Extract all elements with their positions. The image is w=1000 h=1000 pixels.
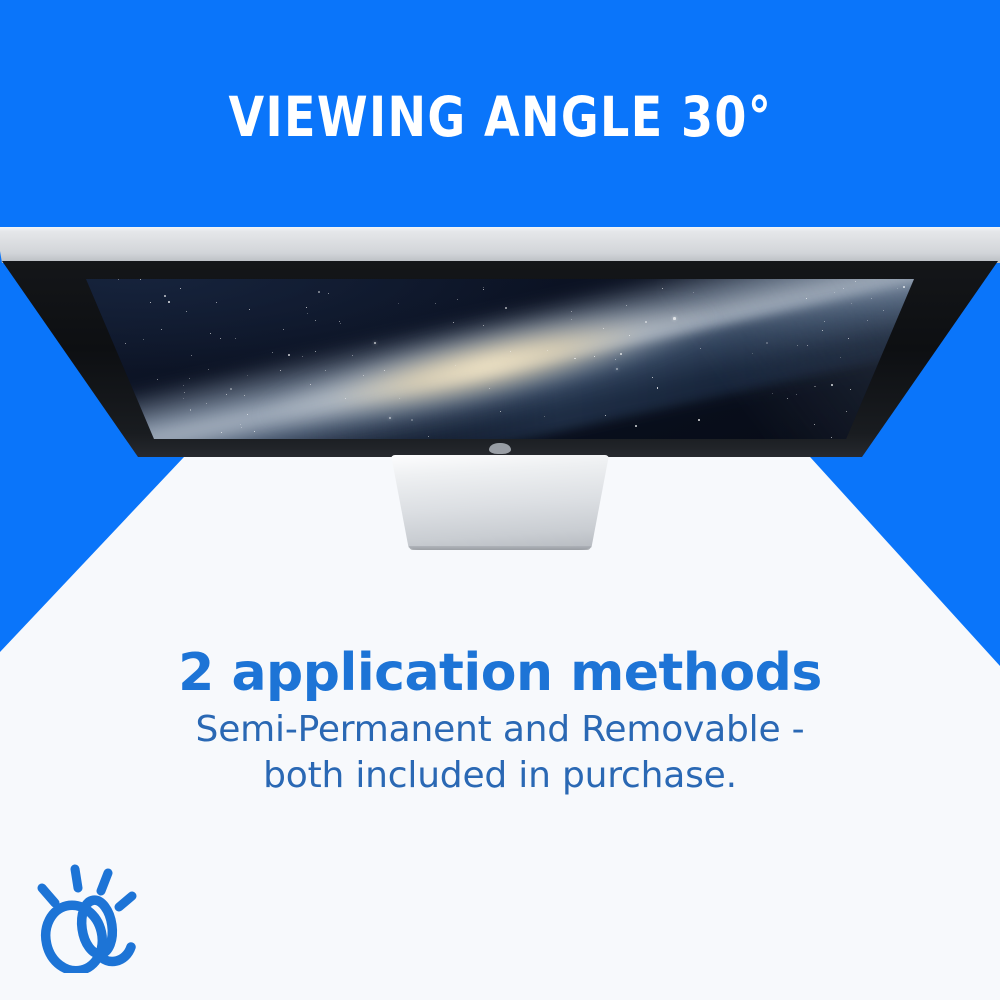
logo-spark-2 (75, 869, 78, 888)
monitor-top-bezel (0, 227, 1000, 263)
monitor-stand-edge (409, 546, 591, 550)
monitor-screen (0, 261, 1000, 457)
logo-outer-loop (39, 900, 108, 973)
feature-subtitle-line-2: both included in purchase. (0, 753, 1000, 799)
bezel-highlight (0, 227, 1000, 232)
feature-title: 2 application methods (0, 645, 1000, 701)
brand-logo (28, 855, 148, 973)
banner-band: VIEWING ANGLE 30° (0, 0, 1000, 228)
monitor-device (0, 261, 1000, 457)
logo-spark-3 (101, 873, 108, 891)
logo-spark-4 (119, 896, 132, 907)
apple-logo-icon (489, 443, 511, 454)
marketing-image-canvas: VIEWING ANGLE 30° 2 application methods … (0, 0, 1000, 1000)
feature-subtitle-line-1: Semi-Permanent and Removable - (0, 707, 1000, 753)
monitor-stand (377, 455, 623, 550)
feature-subtitle: Semi-Permanent and Removable - both incl… (0, 707, 1000, 799)
logo-spark-1 (42, 888, 55, 903)
banner-headline: VIEWING ANGLE 30° (228, 85, 772, 149)
monitor-stand-body (391, 455, 609, 550)
feature-copy-block: 2 application methods Semi-Permanent and… (0, 645, 1000, 799)
